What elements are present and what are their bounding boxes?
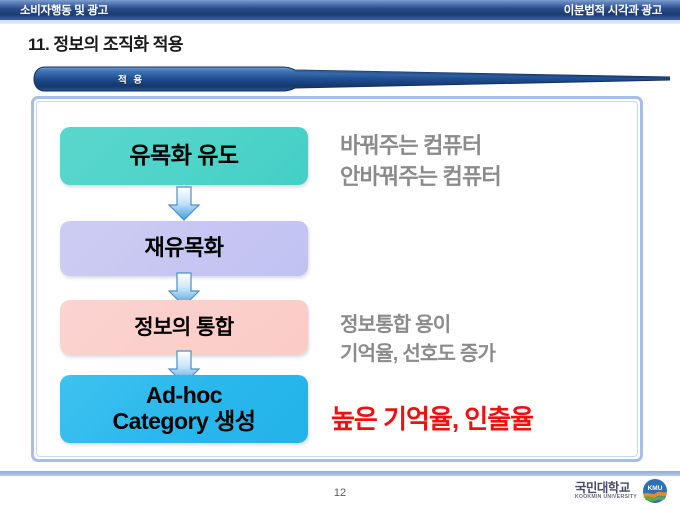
arrow-down-icon [166,186,202,222]
note-integration-benefit: 정보통합 용이 기억율, 선호도 증가 [340,311,495,369]
note-highlight-recall: 높은 기억율, 인출율 [331,398,616,441]
note-line: 정보통합 용이 [340,311,495,340]
logo-name-ko: 국민대학교 [575,482,637,495]
flow-box-label: 정보의 통합 [134,316,233,340]
flow-box-label-line2: Category 생성 [113,409,256,435]
kmu-badge-icon: KMU [642,478,668,504]
footer-divider [0,471,680,476]
header-bar: 소비자행동 및 광고 이분법적 시각과 광고 [0,0,680,20]
flow-box-label: 유목화 유도 [129,143,238,169]
note-line: 기억율, 선호도 증가 [340,340,495,369]
header-course-title: 소비자행동 및 광고 [20,2,108,18]
flow-box-adhoc-category[interactable]: Ad-hoc Category 생성 [60,375,308,443]
header-topic-title: 이분법적 시각과 광고 [564,2,662,18]
flow-box-information-integration[interactable]: 정보의 통합 [60,300,308,355]
flow-box-label-line1: Ad-hoc [113,383,256,409]
flow-box-categorization-induce[interactable]: 유목화 유도 [60,127,308,185]
page-title: 11. 정보의 조직화 적용 [28,30,183,55]
section-banner: 적 용 [33,66,670,94]
logo-text-block: 국민대학교 KOOKMIN UNIVERSITY [575,482,637,501]
logo-name-en: KOOKMIN UNIVERSITY [575,495,637,500]
note-line: 안바꿔주는 컴퓨터 [340,161,501,192]
university-logo: 국민대학교 KOOKMIN UNIVERSITY KMU [575,478,668,504]
note-computer-comparison: 바꿔주는 컴퓨터 안바꿔주는 컴퓨터 [340,130,501,192]
banner-label: 적 용 [118,72,144,86]
flow-box-recategorization[interactable]: 재유목화 [60,221,308,276]
note-line: 바꿔주는 컴퓨터 [340,130,501,161]
svg-text:KMU: KMU [648,485,663,492]
flow-box-label: 재유목화 [145,236,224,261]
slide: 소비자행동 및 광고 이분법적 시각과 광고 11. 정보의 조직화 적용 [0,0,680,510]
